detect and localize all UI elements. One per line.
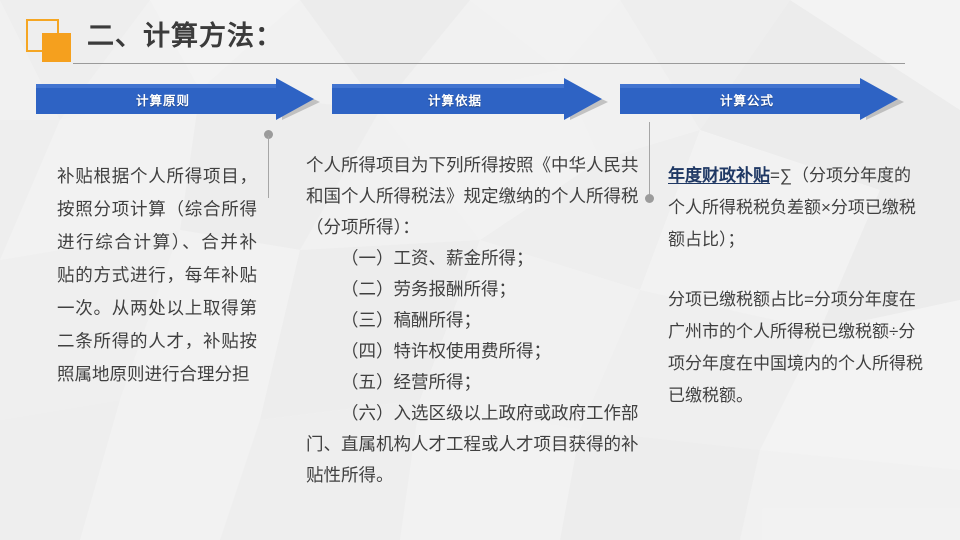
list-item: （二）劳务报酬所得； (306, 274, 654, 305)
title-divider (73, 63, 905, 64)
list-item: （三）稿酬所得； (306, 305, 654, 336)
formula-term-highlight: 年度财政补贴 (668, 166, 770, 185)
paragraph-intro: 个人所得项目为下列所得按照《中华人民共和国个人所得税法》规定缴纳的个人所得税（分… (306, 150, 654, 243)
slide-canvas: 二、计算方法： 计算原则 计算依据 计算公式 (0, 0, 960, 540)
content-column-principle: 补贴根据个人所得项目，按照分项计算（综合所得进行综合计算）、合并补贴的方式进行，… (57, 160, 257, 391)
paragraph: 补贴根据个人所得项目，按照分项计算（综合所得进行综合计算）、合并补贴的方式进行，… (57, 160, 257, 391)
list-item: （五）经营所得； (306, 367, 654, 398)
stage-banner-calculation-formula[interactable]: 计算公式 (620, 78, 904, 120)
stage-banner-calculation-principle[interactable]: 计算原则 (36, 78, 320, 120)
decor-square-filled-icon (42, 33, 71, 62)
formula-primary: 年度财政补贴=∑（分项分年度的个人所得税税负差额×分项已缴税额占比）； (668, 160, 924, 256)
list-item: （四）特许权使用费所得； (306, 336, 654, 367)
paragraph-spacer (668, 256, 924, 284)
list-item: （六）入选区级以上政府或政府工作部门、直属机构人才工程或人才项目获得的补贴性所得… (306, 398, 654, 491)
stage-banner-calculation-basis[interactable]: 计算依据 (332, 78, 608, 120)
slide-header: 二、计算方法： (0, 0, 960, 70)
arrow-shape-icon (620, 78, 904, 120)
content-column-basis: 个人所得项目为下列所得按照《中华人民共和国个人所得税法》规定缴纳的个人所得税（分… (306, 150, 654, 491)
connector-line (268, 136, 269, 198)
list-item: （一）工资、薪金所得； (306, 243, 654, 274)
content-column-formula: 年度财政补贴=∑（分项分年度的个人所得税税负差额×分项已缴税额占比）； 分项已缴… (668, 160, 924, 412)
arrow-shape-icon (332, 78, 608, 120)
formula-secondary: 分项已缴税额占比=分项分年度在广州市的个人所得税已缴税额÷分项分年度在中国境内的… (668, 284, 924, 412)
arrow-shape-icon (36, 78, 320, 120)
page-title: 二、计算方法： (87, 19, 283, 53)
